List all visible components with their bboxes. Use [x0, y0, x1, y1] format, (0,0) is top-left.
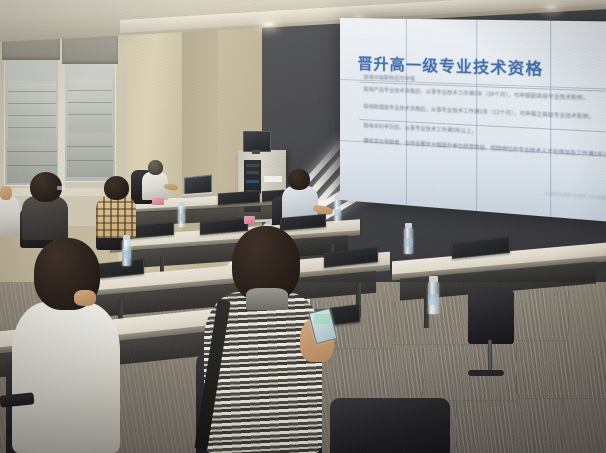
water-bottle-label-row2-1	[122, 250, 131, 259]
pink-item-back[interactable]	[152, 198, 164, 205]
led-video-wall[interactable]: 晋升高一级专业技术资格 获得中级职称后可申报 取得产品专业技术资格后，从事专业技…	[340, 18, 606, 223]
attendee-far-left-arm	[0, 186, 12, 200]
water-bottle-label-row3-2	[334, 209, 341, 216]
pink-item-row3[interactable]	[244, 216, 255, 224]
water-bottle-cap-row3-2	[335, 196, 341, 200]
attendee-back-laptop-head	[148, 160, 163, 175]
smartphone-screen-content	[314, 314, 330, 324]
water-bottle-cap-row3-1	[179, 202, 185, 206]
attendee-front-center-collar	[246, 288, 288, 310]
chair-right-post	[488, 340, 492, 372]
water-bottle-label-row3-1	[178, 214, 185, 221]
glasses-icon	[57, 186, 65, 190]
attendee-mid-left-torso	[22, 196, 68, 240]
attendee-front-left-ear	[74, 290, 96, 306]
monitor-stand	[252, 150, 260, 154]
podium-label	[264, 176, 282, 182]
building-view-right	[68, 79, 112, 133]
ceiling-downlight-1	[262, 21, 275, 27]
water-bottle-label-row2-2	[404, 238, 413, 247]
attendee-right-desk-head	[288, 169, 310, 190]
attendee-mid-plaid-head	[104, 176, 129, 200]
water-bottle-label-front	[428, 294, 439, 305]
training-room-photo: 晋升高一级专业技术资格 获得中级职称后可申报 取得产品专业技术资格后，从事专业技…	[0, 0, 606, 453]
slide-watermark: 内部培训资料 仅供学习交流使用	[544, 190, 606, 202]
water-bottle-cap-front	[429, 276, 438, 282]
chair-right-base	[468, 370, 504, 376]
attendee-front-left-torso	[12, 302, 120, 453]
slide-bullet-3: 取得助理级专业技术资格后，从事专业技术工作满1年（12个月），可申报正高级专业技…	[364, 103, 595, 121]
control-monitor[interactable]	[243, 131, 271, 152]
slide-bullet-5: 确有突出贡献者，业绩显著并大幅提升单位经营效益，短缺岗位的专业技术人才在岗加急工…	[364, 137, 606, 164]
water-bottle-cap-row2-2	[405, 223, 412, 228]
building-view-left	[8, 81, 56, 139]
attendee-mid-plaid-torso	[96, 196, 136, 238]
ceiling-downlight-3	[545, 4, 558, 10]
chair-front-right[interactable]	[330, 398, 450, 453]
chair-right[interactable]	[468, 288, 514, 344]
attendee-far-left-torso	[0, 196, 20, 236]
water-bottle-cap-row2-1	[123, 235, 130, 240]
building-view-lower-right	[67, 133, 113, 177]
